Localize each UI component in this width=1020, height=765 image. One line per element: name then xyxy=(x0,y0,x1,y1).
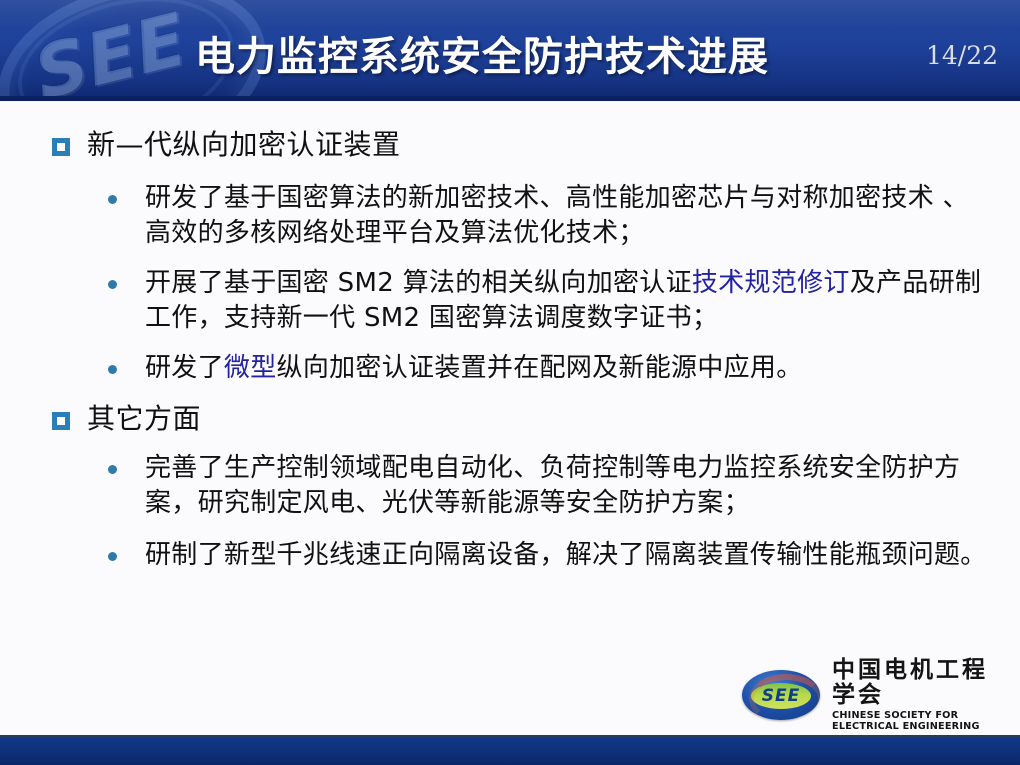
organization-name-en: CHINESE SOCIETY FOR ELECTRICAL ENGINEERI… xyxy=(832,710,1007,732)
slide-header: SEE 电力监控系统安全防护技术进展 14/22 xyxy=(0,0,1020,101)
highlighted-text: 技术规范修订 xyxy=(692,268,850,298)
section-heading-text: 其它方面 xyxy=(87,401,201,436)
list-item-text: 完善了生产控制领域配电自动化、负荷控制等电力监控系统安全防护方案，研究制定风电、… xyxy=(145,451,988,520)
list-item-text: 研发了基于国密算法的新加密技术、高性能加密芯片与对称加密技术 、高效的多核网络处… xyxy=(145,181,988,250)
watermark-text: SEE xyxy=(26,0,195,101)
list-item: 完善了生产控制领域配电自动化、负荷控制等电力监控系统安全防护方案，研究制定风电、… xyxy=(108,451,988,520)
slide-content: 新—代纵向加密认证装置 研发了基于国密算法的新加密技术、高性能加密芯片与对称加密… xyxy=(0,101,1020,636)
emblem-see-text: SEE xyxy=(742,683,820,709)
square-bullet-icon xyxy=(52,138,70,156)
page-title: 电力监控系统安全防护技术进展 xyxy=(195,24,769,82)
text-part: 开展了基于国密 SM2 算法的相关纵向加密认证 xyxy=(145,268,692,298)
highlighted-text: 微型 xyxy=(224,353,277,383)
text-part: 研制了新型千兆线速正向隔离设备，解决了隔离装置传输性能瓶颈问题。 xyxy=(145,540,987,570)
section-heading-text: 新—代纵向加密认证装置 xyxy=(87,127,401,162)
text-part: 纵向加密认证装置并在配网及新能源中应用。 xyxy=(277,353,803,383)
see-emblem-icon: SEE xyxy=(742,670,820,720)
organization-name-cn: 中国电机工程学会 xyxy=(832,658,1004,706)
list-item: 研发了微型纵向加密认证装置并在配网及新能源中应用。 xyxy=(108,351,988,386)
list-item: 开展了基于国密 SM2 算法的相关纵向加密认证技术规范修订及产品研制工作，支持新… xyxy=(108,266,988,335)
dot-bullet-icon xyxy=(108,465,117,474)
logo-wordmark: 中国电机工程学会 CHINESE SOCIETY FOR ELECTRICAL … xyxy=(832,658,1004,731)
dot-bullet-icon xyxy=(108,195,117,204)
text-part: 研发了基于国密算法的新加密技术、高性能加密芯片与对称加密技术 、高效的多核网络处… xyxy=(145,183,969,248)
section-heading-2: 其它方面 xyxy=(52,401,201,436)
organization-logo: SEE 中国电机工程学会 CHINESE SOCIETY FOR ELECTRI… xyxy=(742,664,1004,726)
section-heading-1: 新—代纵向加密认证装置 xyxy=(52,127,401,162)
dot-bullet-icon xyxy=(108,552,117,561)
footer-bar xyxy=(0,737,1020,765)
slide: SEE 电力监控系统安全防护技术进展 14/22 新—代纵向加密认证装置 研发了… xyxy=(0,0,1020,765)
square-bullet-icon xyxy=(52,412,70,430)
page-indicator: 14/22 xyxy=(926,41,998,70)
list-item-text: 开展了基于国密 SM2 算法的相关纵向加密认证技术规范修订及产品研制工作，支持新… xyxy=(145,266,988,335)
list-item-text: 研发了微型纵向加密认证装置并在配网及新能源中应用。 xyxy=(145,351,803,386)
list-item: 研制了新型千兆线速正向隔离设备，解决了隔离装置传输性能瓶颈问题。 xyxy=(108,538,988,573)
text-part: 完善了生产控制领域配电自动化、负荷控制等电力监控系统安全防护方案，研究制定风电、… xyxy=(145,453,960,518)
dot-bullet-icon xyxy=(108,365,117,374)
dot-bullet-icon xyxy=(108,280,117,289)
list-item-text: 研制了新型千兆线速正向隔离设备，解决了隔离装置传输性能瓶颈问题。 xyxy=(145,538,987,573)
list-item: 研发了基于国密算法的新加密技术、高性能加密芯片与对称加密技术 、高效的多核网络处… xyxy=(108,181,988,250)
text-part: 研发了 xyxy=(145,353,224,383)
